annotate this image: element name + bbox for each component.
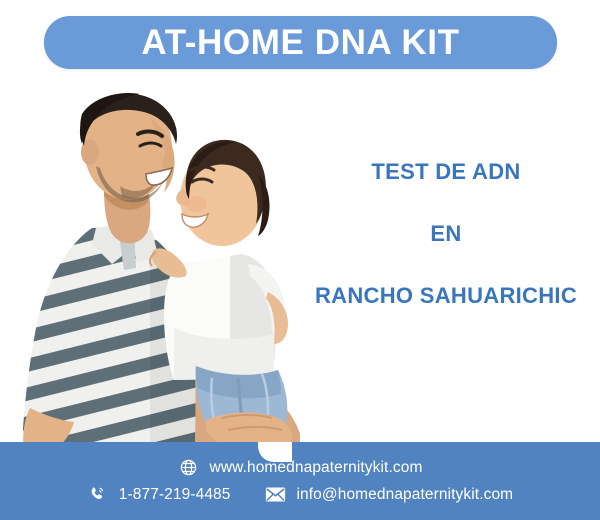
headline-line-location: RANCHO SAHUARICHIC [300,284,592,308]
headline-line-test-de-adn: TEST DE ADN [300,160,592,184]
website-label: www.homednapaternitykit.com [210,459,423,477]
email-contact-item[interactable]: info@homednapaternitykit.com [265,484,514,505]
banner-title: AT-HOME DNA KIT [141,25,459,60]
email-label: info@homednapaternitykit.com [297,486,514,504]
father-holding-toddler-photo [0,78,330,468]
headline-line-en: EN [300,222,592,246]
footer-contact-rows: www.homednapaternitykit.com 1-877-219-44… [0,442,600,520]
phone-contact-item[interactable]: 1-877-219-4485 [87,484,231,505]
website-contact-item[interactable]: www.homednapaternitykit.com [178,457,423,478]
headline-block: TEST DE ADN EN RANCHO SAHUARICHIC [300,160,592,309]
phone-label: 1-877-219-4485 [119,486,231,504]
envelope-icon [265,484,286,505]
dna-kit-promo-poster: AT-HOME DNA KIT [0,0,600,520]
banner-pill: AT-HOME DNA KIT [44,16,557,69]
footer-row-phone-email: 1-877-219-4485 info@homednapaternitykit.… [87,484,513,505]
phone-icon [87,484,108,505]
globe-icon [178,457,199,478]
footer-row-website: www.homednapaternitykit.com [178,457,423,478]
